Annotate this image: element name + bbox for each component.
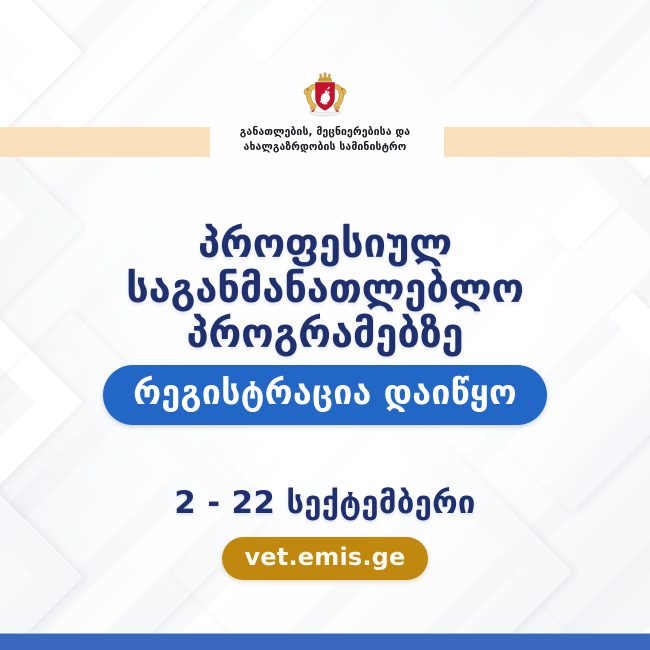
website-badge-wrap: vet.emis.ge [0,537,650,580]
headline-line-2: საგანმანათლებლო [0,267,650,312]
footer-accent-strip [0,633,650,650]
headline-line-3: პროგრამებზე [0,312,650,357]
headline-block: პროფესიულ საგანმანათლებლო პროგრამებზე [0,222,650,356]
ministry-name-label: განათლების, მეცნიერებისა და ახალგაზრდობი… [0,125,650,155]
headline-line-1: პროფესიულ [0,222,650,267]
website-url-badge[interactable]: vet.emis.ge [222,537,427,580]
registration-open-badge: რეგისტრაცია დაიწყო [103,365,547,425]
ministry-lockup: განათლების, მეცნიერებისა და ახალგაზრდობი… [0,70,650,155]
georgia-coat-of-arms-icon [298,70,352,120]
poster-canvas: განათლების, მეცნიერებისა და ახალგაზრდობი… [0,0,650,650]
date-range-label: 2 - 22 სექტემბერი [0,488,650,519]
registration-badge-wrap: რეგისტრაცია დაიწყო [0,365,650,425]
